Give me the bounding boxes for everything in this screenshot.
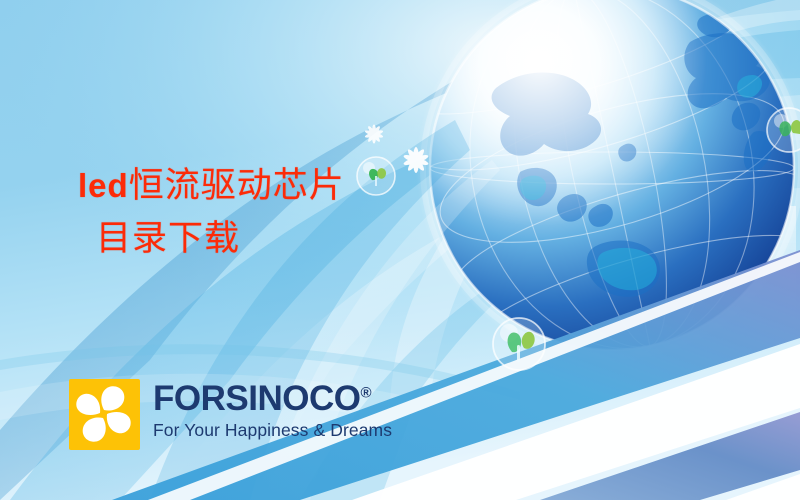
company-logo: FORSINOCO® For Your Happiness & Dreams — [69, 379, 392, 450]
diagonal-ribbon-stripes — [112, 250, 800, 500]
logo-wordmark-label: FORSINOCO — [153, 379, 360, 418]
four-petal-flower-mark — [69, 379, 140, 450]
logo-tagline: For Your Happiness & Dreams — [153, 420, 392, 441]
headline-text-block: led恒流驱动芯片 目录下载 — [78, 160, 518, 266]
city-skyline-silhouette — [628, 164, 796, 362]
logo-text-block: FORSINOCO® For Your Happiness & Dreams — [153, 379, 392, 441]
headline-line-1-cn: 恒流驱动芯片 — [129, 166, 345, 206]
registered-trademark-icon: ® — [360, 384, 371, 401]
banner-canvas: led恒流驱动芯片 目录下载 FORSINOCO® For Your Happi… — [0, 0, 800, 500]
headline-line-2: 目录下载 — [78, 213, 518, 266]
continents — [492, 14, 773, 316]
flower-petals-icon — [69, 379, 140, 450]
logo-wordmark: FORSINOCO® — [153, 381, 392, 416]
flower-sparkle-upper — [364, 125, 383, 144]
eco-bubble-leaf — [493, 318, 545, 370]
eco-bubble-edge — [767, 108, 800, 152]
continents-highlight — [520, 75, 762, 290]
headline-line-1-en: led — [78, 167, 129, 204]
headline-line-1: led恒流驱动芯片 — [78, 160, 518, 213]
